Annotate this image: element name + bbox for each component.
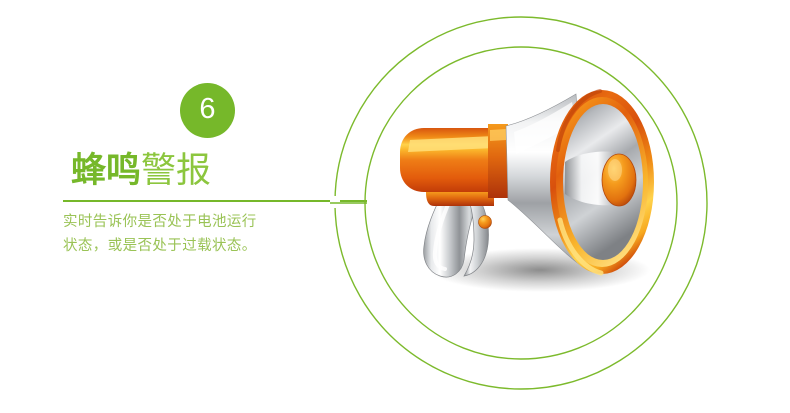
outer-ring-gap-mask [330,196,340,208]
collar-highlight [490,129,506,141]
megaphone-illustration [330,0,790,413]
battery-body-base [426,192,494,206]
feature-text-panel: 6 蜂鸣警报 实时告诉你是否处于电池运行 状态，或是否处于过载状态。 [0,0,380,413]
slide-canvas: 6 蜂鸣警报 实时告诉你是否处于电池运行 状态，或是否处于过载状态。 [0,0,790,413]
feature-description-line-1: 实时告诉你是否处于电池运行 [63,210,363,234]
step-number-label: 6 [199,95,215,124]
title-divider [63,200,367,202]
page-title: 蜂鸣警报 [0,151,380,191]
feature-description-line-2: 状态，或是否处于过载状态。 [63,234,363,258]
megaphone-icon [390,70,720,330]
step-number-badge: 6 [180,83,235,138]
trigger-button [479,216,492,229]
page-title-bold-part: 蜂鸣 [71,151,141,190]
page-title-light-part: 警报 [141,151,211,190]
driver-knob-highlight [608,159,622,181]
feature-description: 实时告诉你是否处于电池运行 状态，或是否处于过载状态。 [63,210,363,258]
